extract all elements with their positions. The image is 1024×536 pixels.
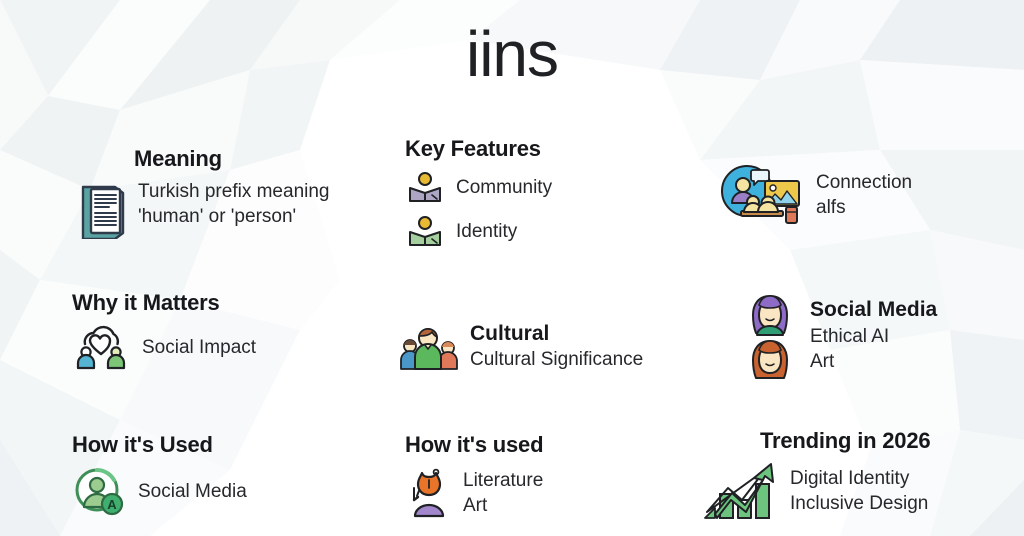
block-meaning-heading: Meaning [134, 146, 376, 171]
block-how-its-used-middle[interactable]: How it's used Literature Art [405, 432, 725, 521]
block-connection-line-1: Connection [816, 170, 912, 195]
svg-text:A: A [107, 497, 117, 512]
key-feature-label-identity: Identity [456, 219, 517, 244]
block-trending-2026-heading: Trending in 2026 [760, 428, 1024, 453]
reader-green-icon [405, 214, 445, 248]
block-meaning-line-2: 'human' or 'person' [138, 204, 329, 229]
family-group-icon [398, 318, 460, 374]
block-connection[interactable]: Connection alfs [718, 164, 1018, 226]
block-cultural-line-1: Cultural Significance [470, 347, 643, 372]
key-feature-label-community: Community [456, 175, 552, 200]
meeting-group-icon [718, 164, 806, 226]
block-how-its-used-middle-line-2: Art [463, 493, 543, 518]
key-feature-item-identity[interactable]: Identity [405, 214, 725, 248]
people-heart-icon [72, 323, 130, 371]
block-how-its-used-middle-heading: How it's used [405, 432, 725, 457]
block-connection-line-2: alfs [816, 195, 912, 220]
block-social-media-right-line-2: Art [810, 349, 937, 374]
block-how-its-used-left-line-1: Social Media [138, 479, 247, 504]
block-social-media-right[interactable]: Social Media Ethical AI Art [740, 292, 1024, 382]
block-meaning-line-1: Turkish prefix meaning [138, 179, 329, 204]
block-why-it-matters[interactable]: Why it Matters Social Impact [72, 290, 372, 371]
block-trending-2026-line-2: Inclusive Design [790, 491, 928, 516]
infographic-stage: iins Meaning [0, 0, 1024, 536]
page-title: iins [0, 22, 1024, 86]
block-cultural-heading: Cultural [470, 320, 643, 348]
block-how-its-used-left-heading: How it's Used [72, 432, 372, 457]
block-social-media-right-heading: Social Media [810, 296, 937, 324]
two-avatars-icon [740, 292, 800, 382]
block-key-features-heading: Key Features [405, 136, 725, 161]
block-trending-2026[interactable]: Trending in 2026 Digital Identity Inclus… [700, 428, 1024, 523]
block-how-its-used-middle-line-1: Literature [463, 468, 543, 493]
growth-chart-icon [700, 459, 780, 523]
key-feature-item-community[interactable]: Community [405, 170, 725, 204]
block-social-media-right-line-1: Ethical AI [810, 324, 937, 349]
block-cultural[interactable]: Cultural Cultural Significance [398, 318, 718, 374]
profile-badge-icon: A [72, 465, 126, 517]
artist-figure-icon [405, 465, 453, 521]
block-why-it-matters-line-1: Social Impact [142, 335, 256, 360]
block-why-it-matters-heading: Why it Matters [72, 290, 372, 315]
block-trending-2026-line-1: Digital Identity [790, 466, 928, 491]
document-icon [76, 179, 128, 241]
block-key-features[interactable]: Key Features Community [405, 136, 725, 248]
block-meaning[interactable]: Meaning [76, 146, 376, 241]
reader-purple-icon [405, 170, 445, 204]
block-how-its-used-left[interactable]: How it's Used A Social Media [72, 432, 372, 517]
